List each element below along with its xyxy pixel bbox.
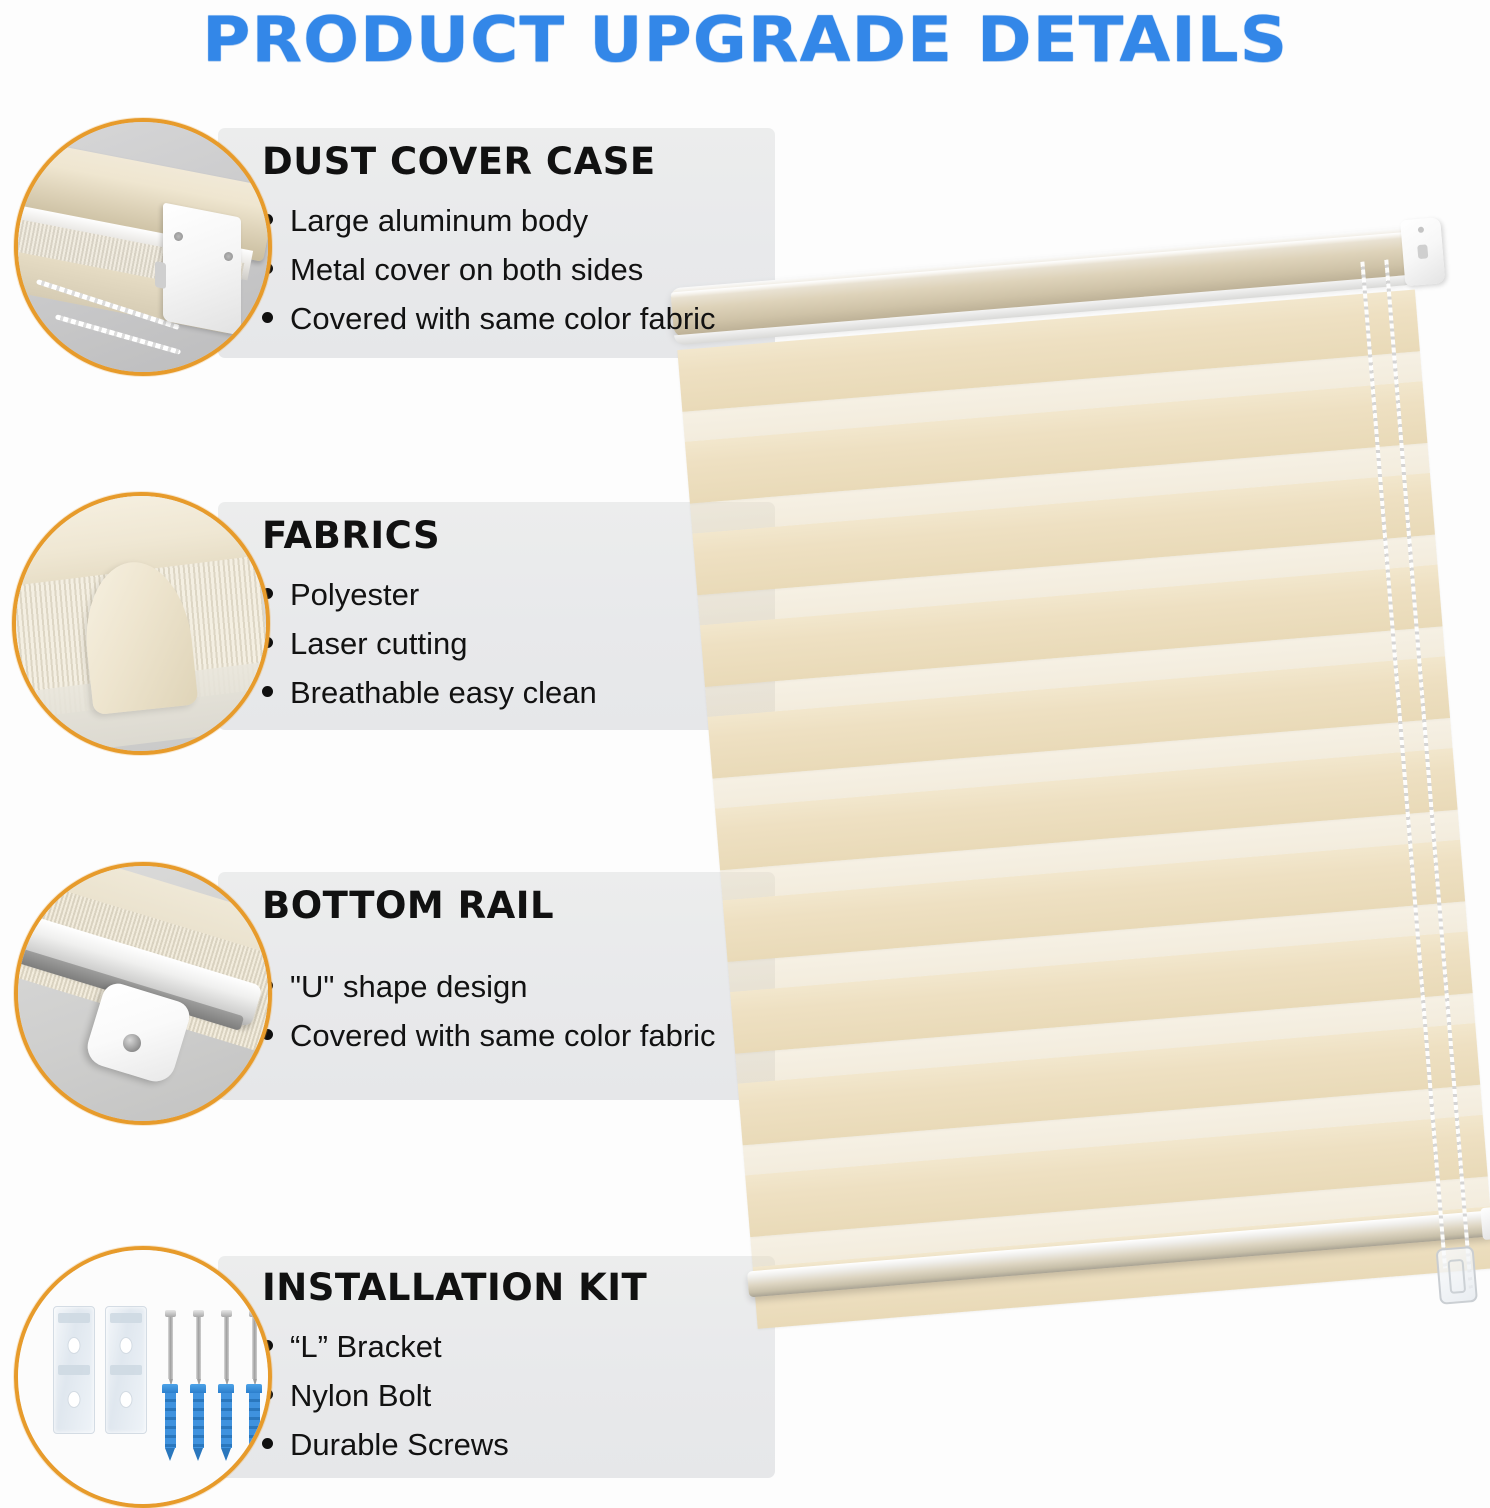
screw-icon	[249, 1310, 260, 1386]
bullet-text: Nylon Bolt	[290, 1371, 431, 1420]
chain-tensioner-icon[interactable]	[1436, 1246, 1478, 1305]
bullet-text: "U" shape design	[290, 962, 527, 1011]
zebra-fabric	[677, 289, 1490, 1346]
feature-title: FABRICS	[262, 516, 597, 556]
feature-bullet-list: Large aluminum body Metal cover on both …	[262, 196, 716, 343]
title-bar: PRODUCT UPGRADE DETAILS	[0, 0, 1490, 80]
feature-title: BOTTOM RAIL	[262, 886, 716, 926]
bullet-text: Covered with same color fabric	[290, 1011, 716, 1060]
list-item: "U" shape design	[262, 962, 716, 1011]
list-item: Durable Screws	[262, 1420, 647, 1469]
l-bracket-icon	[105, 1306, 147, 1434]
bullet-text: “L” Bracket	[290, 1322, 442, 1371]
list-item: Laser cutting	[262, 619, 597, 668]
bullet-text: Covered with same color fabric	[290, 294, 716, 343]
wall-anchor-icon	[218, 1384, 234, 1461]
fabrics-photo	[12, 492, 270, 755]
feature-bullet-list: “L” Bracket Nylon Bolt Durable Screws	[262, 1322, 647, 1469]
bottom-rail-photo	[14, 862, 272, 1125]
list-item: Large aluminum body	[262, 196, 716, 245]
bullet-text: Durable Screws	[290, 1420, 509, 1469]
bullet-text: Large aluminum body	[290, 196, 588, 245]
list-item: Covered with same color fabric	[262, 294, 716, 343]
feature-title: DUST COVER CASE	[262, 142, 716, 182]
bullet-text: Laser cutting	[290, 619, 468, 668]
list-item: Covered with same color fabric	[262, 1011, 716, 1060]
wall-anchor-icon	[190, 1384, 206, 1461]
bullet-text: Metal cover on both sides	[290, 245, 643, 294]
page-title: PRODUCT UPGRADE DETAILS	[202, 9, 1288, 71]
list-item: Polyester	[262, 570, 597, 619]
list-item: Metal cover on both sides	[262, 245, 716, 294]
list-item: Nylon Bolt	[262, 1371, 647, 1420]
installation-kit-photo	[14, 1246, 272, 1508]
screw-icon	[221, 1310, 232, 1386]
bullet-text: Polyester	[290, 570, 419, 619]
list-item: Breathable easy clean	[262, 668, 597, 717]
feature-bullet-list: "U" shape design Covered with same color…	[262, 962, 716, 1060]
wall-anchor-icon	[246, 1384, 262, 1461]
screw-icon	[165, 1310, 176, 1386]
screw-icon	[193, 1310, 204, 1386]
l-bracket-icon	[53, 1306, 95, 1434]
list-item: “L” Bracket	[262, 1322, 647, 1371]
feature-title: INSTALLATION KIT	[262, 1268, 647, 1308]
product-image-zebra-roller-blind	[702, 226, 1472, 1336]
dust-cover-case-photo	[14, 118, 272, 376]
wall-anchor-icon	[162, 1384, 178, 1461]
bullet-text: Breathable easy clean	[290, 668, 597, 717]
headrail-endcap-icon	[1400, 217, 1445, 286]
feature-bullet-list: Polyester Laser cutting Breathable easy …	[262, 570, 597, 717]
